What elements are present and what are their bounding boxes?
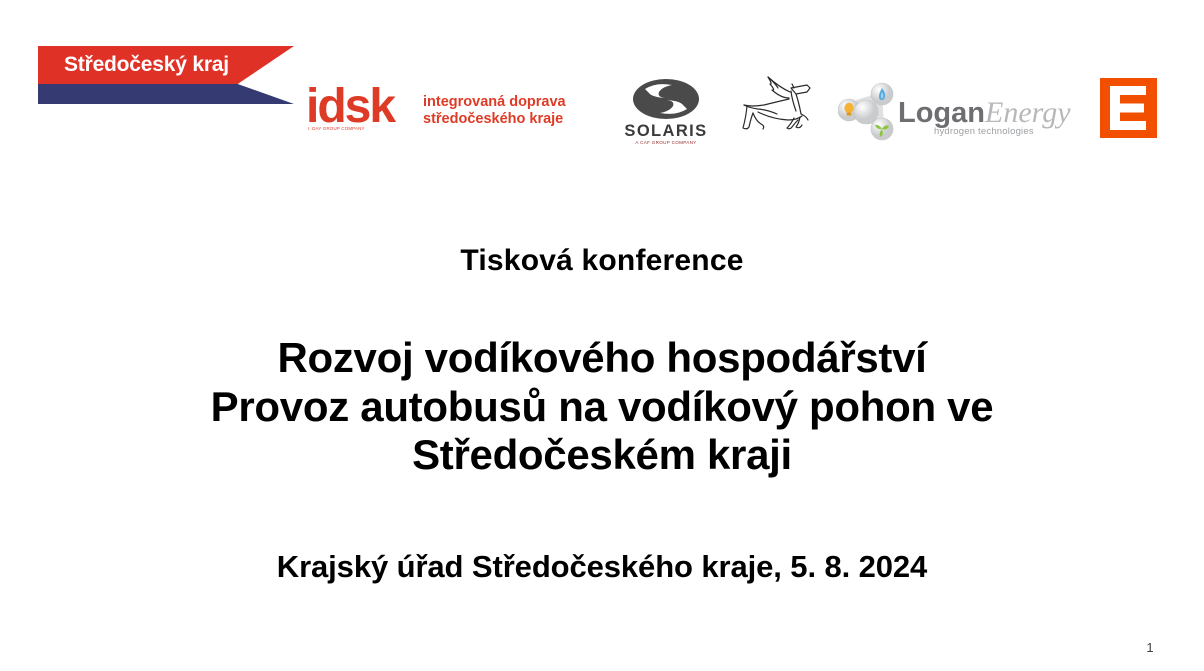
logan-energy-subtitle: hydrogen technologies: [934, 126, 1034, 137]
logan-energy-logo: LoganEnergy hydrogen technologies: [838, 80, 1052, 144]
idsk-wordmark: idsk: [306, 82, 394, 132]
partner-logo-bar: Středočeský kraj idsk integrovaná doprav…: [0, 36, 1204, 114]
solaris-wordmark: SOLARIS: [614, 122, 718, 140]
logan-word-italic: Energy: [985, 96, 1071, 129]
cez-logo: [1100, 78, 1157, 138]
logan-molecule-icon: [838, 82, 904, 142]
slide-kicker: Tisková konference: [0, 243, 1204, 279]
solaris-s-mark-icon: [632, 78, 700, 120]
idsk-subtitle-line2: středočeského kraje: [423, 111, 563, 127]
slide-venue-date: Krajský úřad Středočeského kraje, 5. 8. …: [0, 548, 1204, 585]
cez-e-mark-icon: [1100, 78, 1157, 138]
slide-title-line-1: Rozvoj vodíkového hospodářství: [0, 334, 1204, 383]
pegasus-horse-logo: [734, 72, 830, 146]
idsk-logo: idsk integrovaná doprava středočeského k…: [306, 80, 596, 136]
slide-title-line-3: Středočeském kraji: [0, 431, 1204, 480]
solaris-logo: SOLARIS A CAF GROUP COMPANY: [614, 78, 718, 148]
slide-main-title: Rozvoj vodíkového hospodářství Provoz au…: [0, 334, 1204, 480]
idsk-subtitle-line1: integrovaná doprava: [423, 94, 566, 110]
idsk-caption: I. DAY GROUP COMPANY: [308, 126, 365, 131]
stredocesky-kraj-navy-banner: [38, 84, 294, 104]
page-number: 1: [1130, 640, 1170, 655]
slide-title-line-2: Provoz autobusů na vodíkový pohon ve: [0, 383, 1204, 432]
logan-word-bold: Logan: [898, 97, 985, 129]
stredocesky-kraj-label: Středočeský kraj: [64, 51, 229, 79]
logan-energy-wordmark: LoganEnergy: [898, 98, 1071, 128]
solaris-tagline: A CAF GROUP COMPANY: [614, 140, 718, 145]
stredocesky-kraj-logo: Středočeský kraj: [38, 46, 294, 104]
idsk-subtitle: integrovaná doprava středočeského kraje: [423, 94, 566, 127]
